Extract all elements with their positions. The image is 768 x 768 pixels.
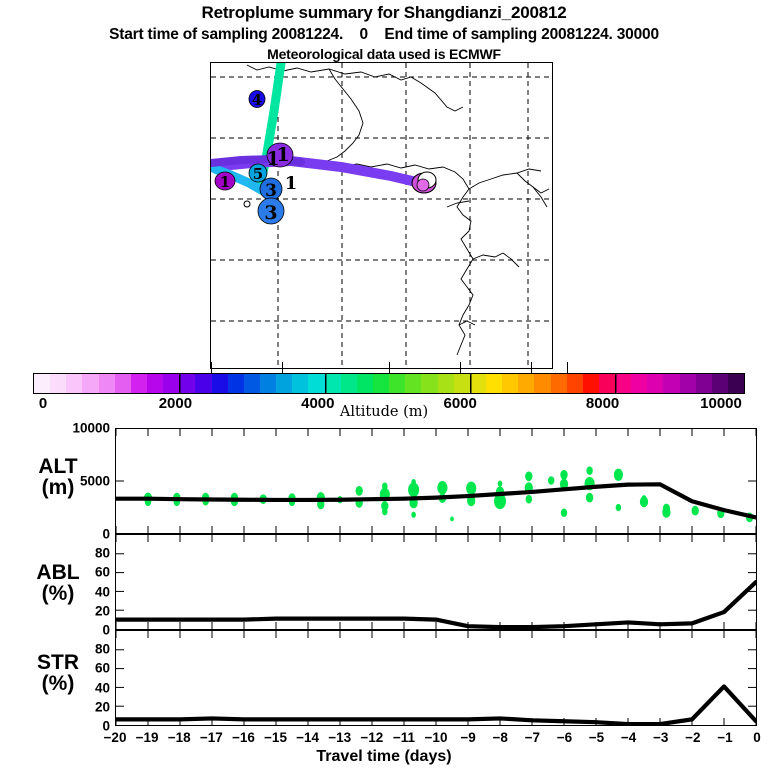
y-tick-label: 10000: [72, 421, 110, 436]
colorbar-segment: [373, 374, 389, 393]
alt-chart-panel[interactable]: [115, 428, 757, 534]
svg-text:5: 5: [253, 165, 263, 183]
x-tick-label: −3: [653, 730, 668, 745]
colorbar-segment: [486, 374, 502, 393]
colorbar-segment: [115, 374, 131, 393]
x-tick-label: −18: [168, 730, 191, 745]
colorbar-segment: [647, 374, 663, 393]
y-tickmarks: [116, 650, 756, 706]
colorbar-segment: [163, 374, 179, 393]
abl-chart-svg: [116, 535, 756, 629]
x-tick-label: −5: [589, 730, 604, 745]
x-tick-label: −14: [296, 730, 319, 745]
sampling-time-line: Start time of sampling 20081224. 0 End t…: [0, 26, 768, 44]
colorbar-tickmarks: [33, 362, 745, 373]
x-tick-label: −9: [460, 730, 475, 745]
map-svg: 4 1 1 1 5 3 3 1: [211, 63, 552, 368]
map-coastlines: [247, 65, 549, 355]
x-tick-label: −12: [360, 730, 383, 745]
colorbar-segment: [389, 374, 405, 393]
colorbar-segment: [325, 374, 341, 393]
x-tick-label: −16: [232, 730, 255, 745]
colorbar-segment: [341, 374, 357, 393]
colorbar-segment: [567, 374, 583, 393]
x-tickmarks: [116, 535, 756, 629]
trend-line: [116, 582, 756, 627]
x-tickmarks: [116, 429, 756, 533]
colorbar-tickmark: [282, 362, 283, 373]
y-tick-label: 5000: [80, 474, 110, 489]
colorbar-tickmark: [567, 362, 568, 373]
trend-line: [116, 484, 756, 517]
colorbar-segment: [34, 374, 50, 393]
colorbar-segment: [663, 374, 679, 393]
y-tick-label: 40: [95, 680, 110, 695]
altitude-colorbar: 0200040006000800010000: [33, 373, 745, 394]
x-tick-label: 0: [753, 730, 761, 745]
x-tick-label: −6: [557, 730, 572, 745]
svg-text:4: 4: [252, 91, 262, 109]
y-tick-label: 60: [95, 661, 110, 676]
y-tick-label: 60: [95, 565, 110, 580]
y-tick-label: 80: [95, 546, 110, 561]
alt-scatter-points: [144, 466, 753, 522]
colorbar-segment: [260, 374, 276, 393]
colorbar-segment: [308, 374, 324, 393]
x-tick-label: −19: [136, 730, 159, 745]
colorbar-segment: [728, 374, 744, 393]
colorbar-segment: [405, 374, 421, 393]
alt-y-axis-labels: 0500010000: [62, 428, 110, 534]
x-tick-label: −2: [685, 730, 700, 745]
colorbar-gradient: [33, 373, 745, 394]
colorbar-title: Altitude (m): [0, 404, 768, 420]
y-tick-label: 40: [95, 584, 110, 599]
x-tick-label: −7: [525, 730, 540, 745]
svg-text:1: 1: [276, 144, 289, 166]
svg-text:1: 1: [220, 173, 230, 191]
colorbar-segment: [599, 374, 615, 393]
colorbar-segment: [712, 374, 728, 393]
colorbar-segment: [147, 374, 163, 393]
colorbar-segment: [534, 374, 550, 393]
colorbar-segment: [583, 374, 599, 393]
str-y-axis-labels: 020406080: [62, 630, 110, 726]
colorbar-segment: [244, 374, 260, 393]
x-tick-label: −1: [717, 730, 732, 745]
colorbar-segment: [615, 374, 631, 393]
x-tick-label: −11: [393, 730, 415, 745]
colorbar-tickmark: [211, 362, 212, 373]
y-tick-label: 20: [95, 603, 110, 618]
colorbar-segment: [454, 374, 470, 393]
colorbar-tickmark: [531, 362, 532, 373]
colorbar-segment: [82, 374, 98, 393]
x-tick-label: −4: [621, 730, 636, 745]
x-tick-label: −10: [425, 730, 448, 745]
str-chart-svg: [116, 631, 756, 725]
str-chart-panel[interactable]: [115, 630, 757, 726]
colorbar-segment: [131, 374, 147, 393]
retroplume-map[interactable]: 4 1 1 1 5 3 3 1: [210, 62, 553, 369]
alt-chart-svg: [116, 429, 756, 533]
colorbar-tickmark: [389, 362, 390, 373]
colorbar-segment: [50, 374, 66, 393]
abl-y-axis-labels: 020406080: [62, 534, 110, 630]
colorbar-segment: [470, 374, 486, 393]
colorbar-segment: [66, 374, 82, 393]
x-tick-label: −20: [104, 730, 127, 745]
svg-text:3: 3: [264, 202, 277, 224]
x-tick-label: −15: [264, 730, 287, 745]
svg-text:1: 1: [285, 173, 298, 194]
colorbar-segment: [357, 374, 373, 393]
colorbar-segment: [292, 374, 308, 393]
colorbar-segment: [518, 374, 534, 393]
page-title: Retroplume summary for Shangdianzi_20081…: [0, 3, 768, 23]
colorbar-segment: [195, 374, 211, 393]
colorbar-segment: [276, 374, 292, 393]
x-axis-tick-labels: −20−19−18−17−16−15−14−13−12−11−10−9−8−7−…: [115, 730, 757, 748]
x-tick-label: −13: [328, 730, 351, 745]
colorbar-segment: [631, 374, 647, 393]
colorbar-segment: [696, 374, 712, 393]
colorbar-segment: [680, 374, 696, 393]
y-tickmarks: [116, 554, 756, 610]
x-tickmarks: [116, 631, 756, 725]
title-block: Retroplume summary for Shangdianzi_20081…: [0, 0, 768, 62]
colorbar-segment: [438, 374, 454, 393]
meteorological-data-line: Meteorological data used is ECMWF: [0, 46, 768, 62]
colorbar-segment: [551, 374, 567, 393]
colorbar-segment: [212, 374, 228, 393]
colorbar-segment: [228, 374, 244, 393]
colorbar-segment: [421, 374, 437, 393]
y-tick-label: 80: [95, 642, 110, 657]
colorbar-segment: [179, 374, 195, 393]
map-trajectory-lines: [211, 63, 425, 191]
x-tick-label: −8: [492, 730, 507, 745]
colorbar-tickmark: [460, 362, 461, 373]
abl-chart-panel[interactable]: [115, 534, 757, 630]
y-tick-label: 20: [95, 699, 110, 714]
colorbar-segment: [99, 374, 115, 393]
colorbar-segment: [502, 374, 518, 393]
x-tick-label: −17: [200, 730, 223, 745]
x-axis-title: Travel time (days): [0, 748, 768, 766]
